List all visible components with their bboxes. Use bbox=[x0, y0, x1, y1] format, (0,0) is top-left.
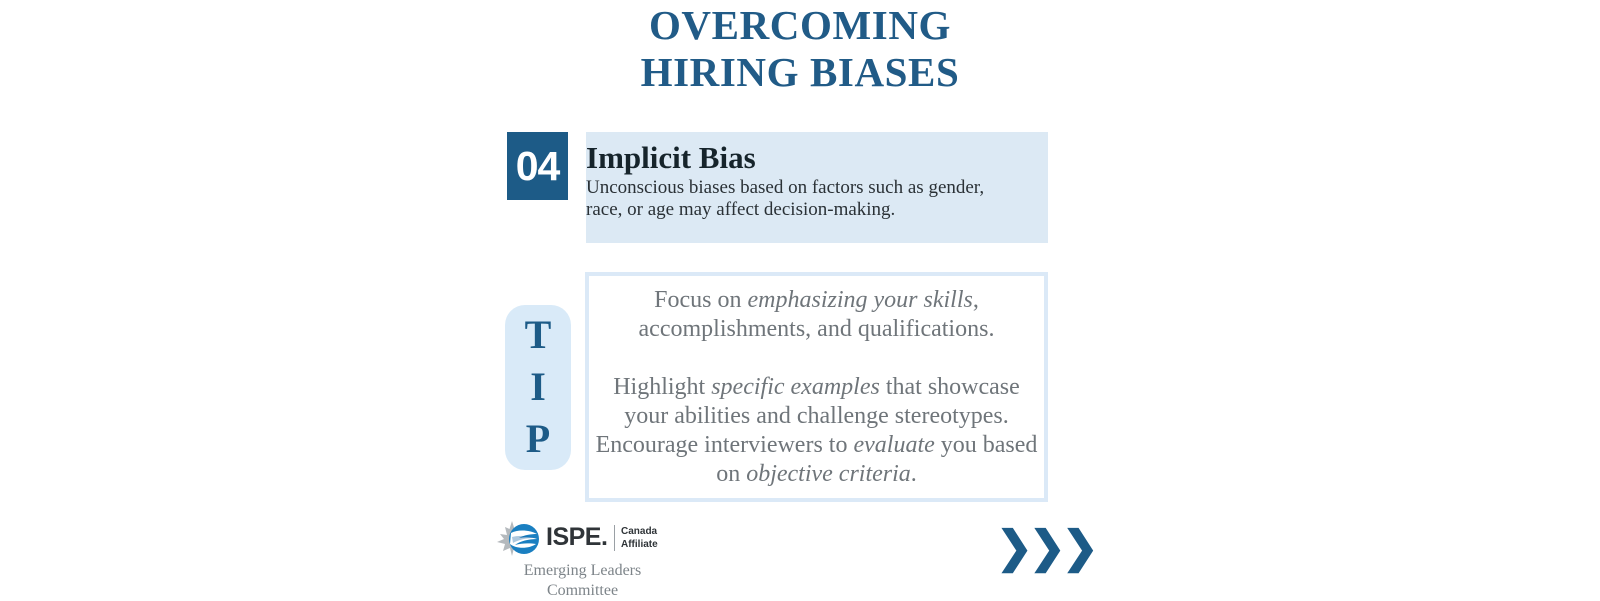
ispe-wordmark: ISPE. bbox=[546, 524, 607, 551]
tip-p1-part1: Focus on bbox=[654, 287, 747, 313]
slide-canvas: OVERCOMING HIRING BIASES 04 Implicit Bia… bbox=[0, 0, 1600, 589]
tip-p2-italic3: objective criteria bbox=[746, 461, 911, 487]
tip-letter-t: T bbox=[505, 309, 571, 361]
tip-tab: T I P bbox=[505, 305, 571, 470]
page-title: OVERCOMING HIRING BIASES bbox=[0, 2, 1600, 96]
tip-letter-i: I bbox=[505, 361, 571, 413]
affiliate-label: Canada Affiliate bbox=[621, 525, 658, 551]
affiliate-line-2: Affiliate bbox=[621, 538, 658, 551]
logo-row: ISPE. Canada Affiliate bbox=[490, 516, 675, 562]
affiliate-line-1: Canada bbox=[621, 525, 658, 538]
tip-paragraph-spacer bbox=[589, 344, 1044, 373]
tip-p2-italic2: evaluate bbox=[853, 432, 934, 458]
point-number-badge: 04 bbox=[507, 132, 568, 200]
committee-label: Emerging Leaders Committee bbox=[490, 561, 675, 601]
tip-box: Focus on emphasizing your skills, accomp… bbox=[585, 272, 1048, 502]
ispe-globe-maple-leaf-icon bbox=[494, 518, 552, 560]
tip-p1-italic1: emphasizing your skills bbox=[748, 287, 973, 313]
point-title: Implicit Bias bbox=[586, 140, 1048, 176]
point-description-line-1: Unconscious biases based on factors such… bbox=[586, 177, 1048, 199]
tip-p2-italic1: specific examples bbox=[711, 374, 880, 400]
point-body: Implicit Bias Unconscious biases based o… bbox=[586, 132, 1048, 243]
tip-p2-part4: . bbox=[911, 461, 917, 487]
tip-paragraph-1: Focus on emphasizing your skills, accomp… bbox=[589, 286, 1044, 344]
footer-logo: ISPE. Canada Affiliate Emerging Leaders … bbox=[490, 516, 675, 589]
tip-letter-p: P bbox=[505, 413, 571, 465]
title-line-1: OVERCOMING bbox=[0, 2, 1600, 49]
logo-divider bbox=[614, 525, 615, 551]
title-line-2: HIRING BIASES bbox=[0, 49, 1600, 96]
point-description-line-2: race, or age may affect decision-making. bbox=[586, 199, 1048, 221]
next-chevrons-icon[interactable]: ❯❯❯ bbox=[996, 520, 1086, 576]
tip-p2-part1: Highlight bbox=[613, 374, 711, 400]
tip-paragraph-2: Highlight specific examples that showcas… bbox=[589, 373, 1044, 489]
point-card: 04 Implicit Bias Unconscious biases base… bbox=[507, 132, 1048, 243]
